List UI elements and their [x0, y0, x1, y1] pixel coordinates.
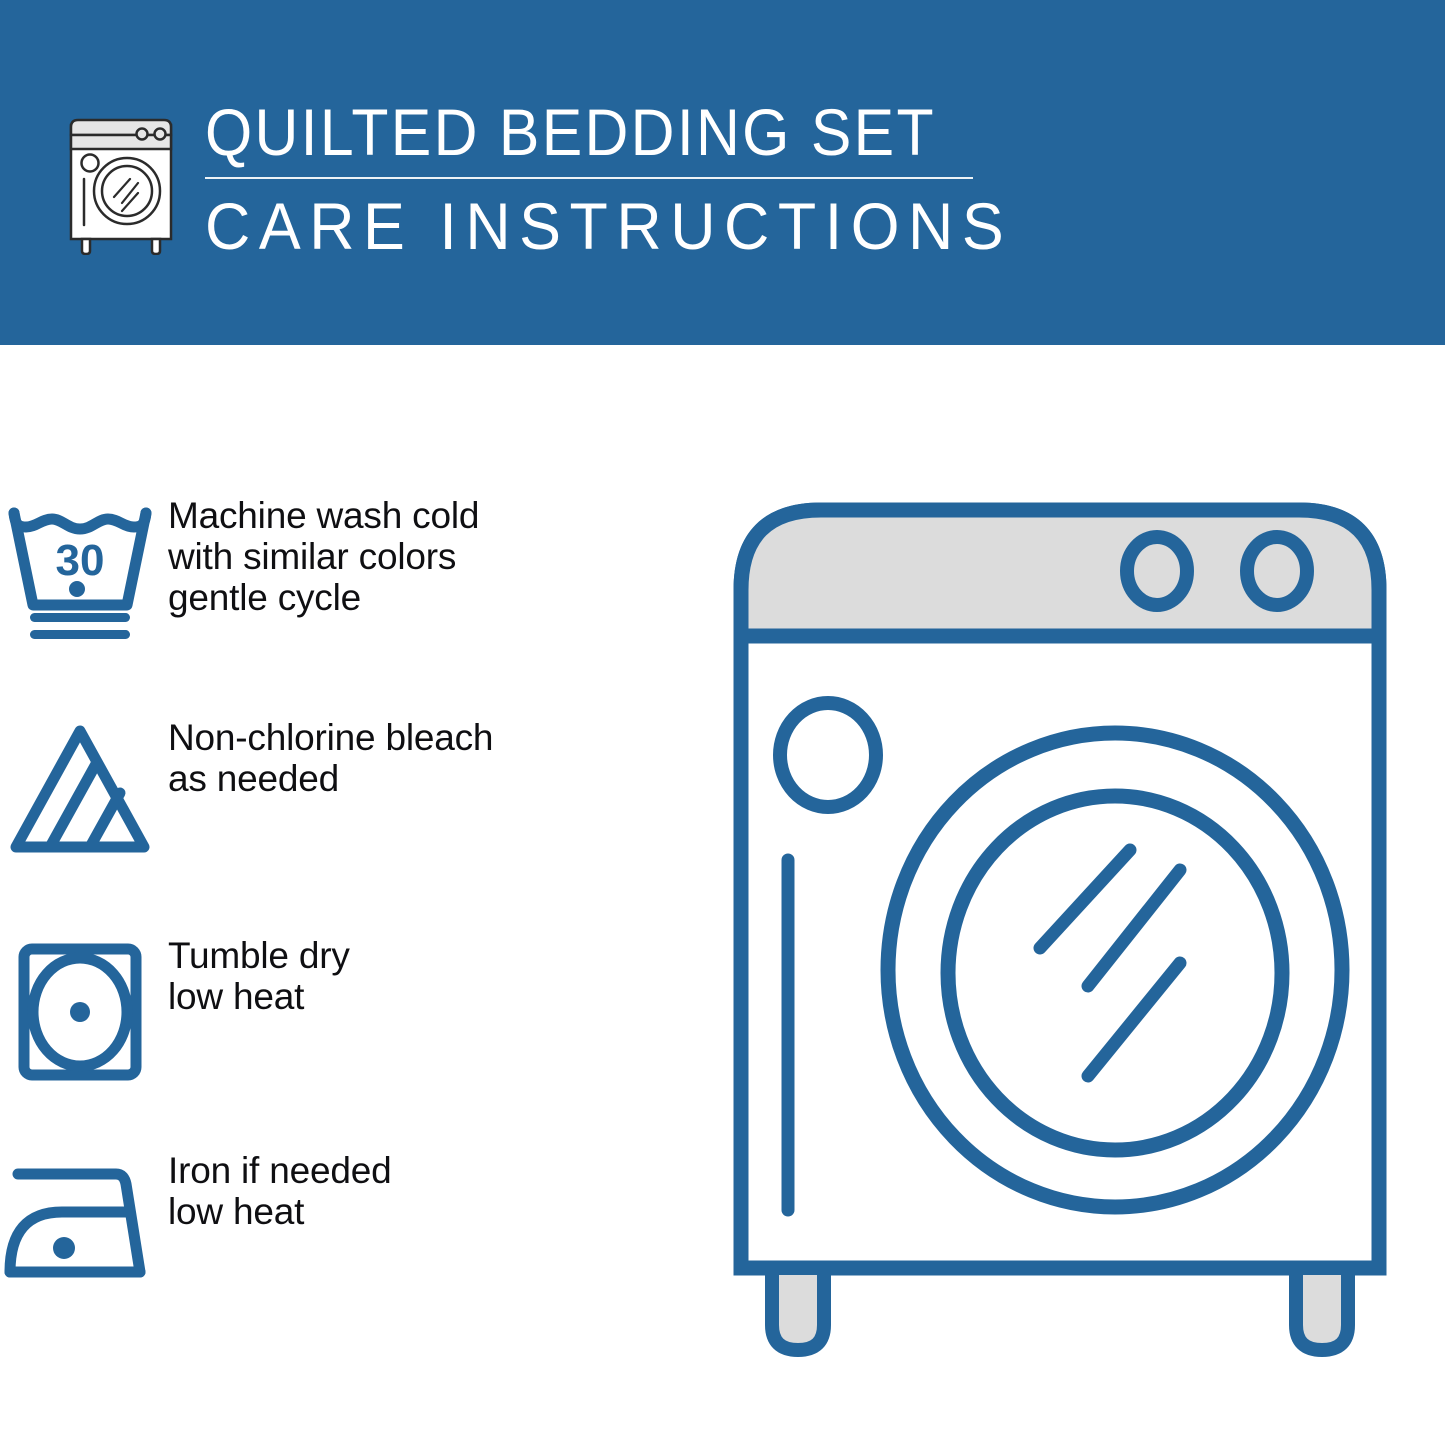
care-line: gentle cycle	[168, 577, 700, 618]
care-item-label: Tumble dry low heat	[160, 935, 700, 1017]
care-item-iron: Iron if needed low heat	[0, 1150, 700, 1302]
care-item-tumble-dry: Tumble dry low heat	[0, 935, 700, 1087]
care-item-label: Machine wash cold with similar colors ge…	[160, 495, 700, 618]
iron-low-heat-icon	[0, 1150, 160, 1302]
care-line: Iron if needed	[168, 1150, 700, 1191]
care-item-label: Iron if needed low heat	[160, 1150, 700, 1232]
care-instruction-list: 30 Machine wash cold with similar colors…	[0, 345, 700, 1445]
care-item-label: Non-chlorine bleach as needed	[160, 717, 700, 799]
care-line: with similar colors	[168, 536, 700, 577]
care-line: as needed	[168, 758, 700, 799]
knob-left	[1127, 537, 1187, 605]
tumble-dry-low-heat-icon	[0, 935, 160, 1087]
leg-left	[772, 1268, 824, 1350]
care-item-machine-wash: 30 Machine wash cold with similar colors…	[0, 495, 700, 647]
care-line: Machine wash cold	[168, 495, 700, 536]
wash-temperature-label: 30	[56, 536, 105, 585]
front-load-washing-machine-illustration	[710, 470, 1410, 1370]
leg-right	[1296, 1268, 1348, 1350]
header-text-block: QUILTED BEDDING SET CARE INSTRUCTIONS	[205, 96, 1385, 263]
detergent-dispenser-circle	[780, 703, 876, 807]
care-line: low heat	[168, 976, 700, 1017]
care-line: Non-chlorine bleach	[168, 717, 700, 758]
knob-right	[1247, 537, 1307, 605]
page-title: QUILTED BEDDING SET	[205, 96, 1291, 168]
title-divider	[205, 177, 973, 179]
care-line: Tumble dry	[168, 935, 700, 976]
care-instructions-page: QUILTED BEDDING SET CARE INSTRUCTIONS 30	[0, 0, 1445, 1445]
header-banner: QUILTED BEDDING SET CARE INSTRUCTIONS	[0, 0, 1445, 345]
bleach-triangle-non-chlorine-icon	[0, 717, 160, 869]
care-line: low heat	[168, 1191, 700, 1232]
care-item-bleach: Non-chlorine bleach as needed	[0, 717, 700, 869]
washing-machine-icon	[64, 103, 184, 255]
page-subtitle: CARE INSTRUCTIONS	[205, 189, 1326, 263]
wash-tub-30-gentle-icon: 30	[0, 495, 160, 647]
door-inner-ring	[948, 796, 1282, 1150]
